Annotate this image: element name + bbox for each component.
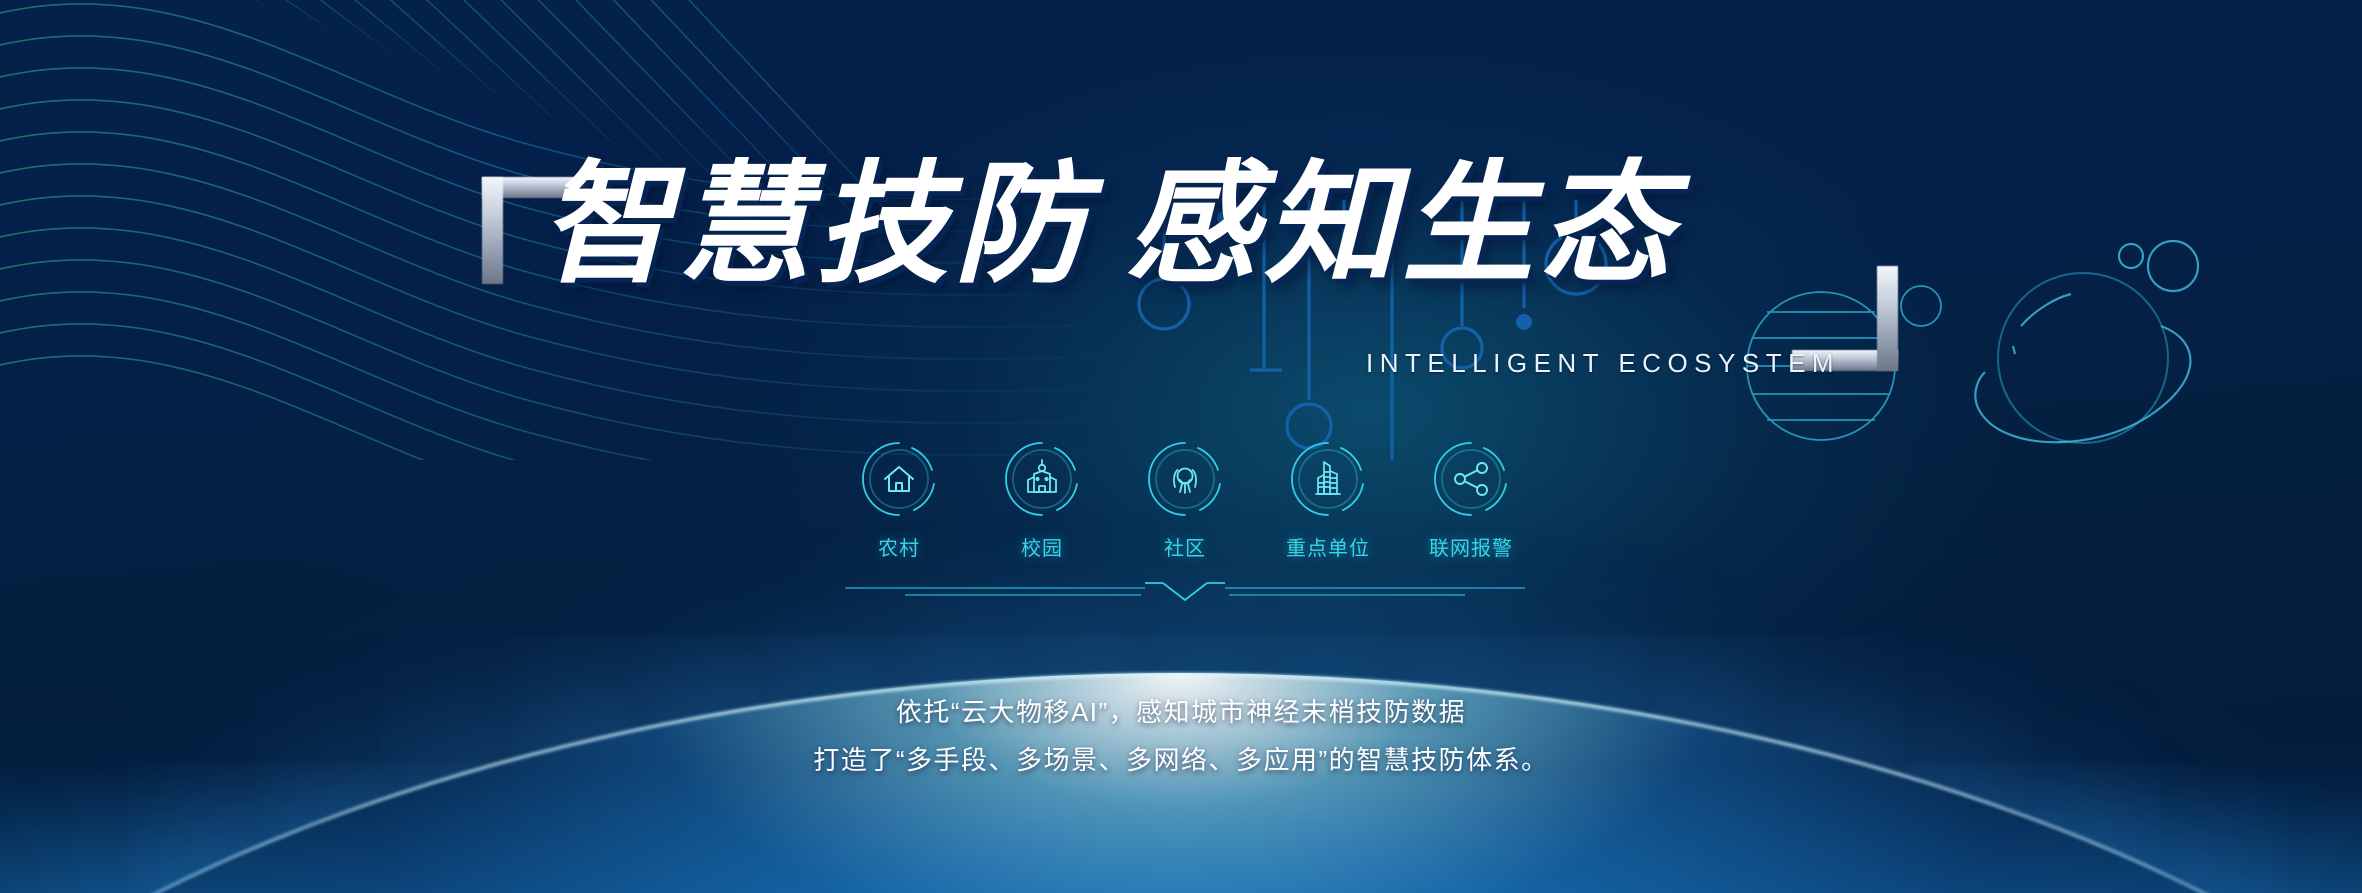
subtitle-english: INTELLIGENT ECOSYSTEM [1366, 348, 1840, 379]
page-title-part-2: 感知生态 [1126, 148, 1678, 302]
bracket-top-left-vertical [482, 177, 503, 284]
description-text: 依托“云大物移AI”，感知城市神经末梢技防数据 打造了“多手段、多场景、多网络、… [0, 688, 2362, 784]
category-item-campus[interactable]: 校园 [988, 440, 1096, 561]
description-line-2: 打造了“多手段、多场景、多网络、多应用”的智慧技防体系。 [0, 736, 2362, 784]
page-title-part-1: 智慧技防 [540, 148, 1092, 302]
category-item-network-alarm[interactable]: 联网报警 [1417, 440, 1525, 561]
category-label: 校园 [1021, 532, 1063, 561]
community-icon [1146, 440, 1224, 518]
school-icon [1003, 440, 1081, 518]
house-icon [860, 440, 938, 518]
category-item-rural[interactable]: 农村 [845, 440, 953, 561]
page-title: 智慧技防感知生态 [540, 150, 1840, 302]
buildings-icon [1289, 440, 1367, 518]
category-label: 重点单位 [1286, 532, 1370, 561]
category-item-community[interactable]: 社区 [1131, 440, 1239, 561]
category-label: 农村 [878, 532, 920, 561]
category-label: 社区 [1164, 532, 1206, 561]
category-item-key-units[interactable]: 重点单位 [1274, 440, 1382, 561]
section-divider [845, 580, 1525, 604]
category-label: 联网报警 [1429, 532, 1513, 561]
description-line-1: 依托“云大物移AI”，感知城市神经末梢技防数据 [0, 688, 2362, 736]
share-network-icon [1432, 440, 1510, 518]
hero-banner: 智慧技防感知生态 INTELLIGENT ECOSYSTEM [0, 0, 2362, 893]
category-icon-row: 农村 [845, 440, 1525, 561]
bracket-bottom-right-vertical [1877, 266, 1898, 371]
